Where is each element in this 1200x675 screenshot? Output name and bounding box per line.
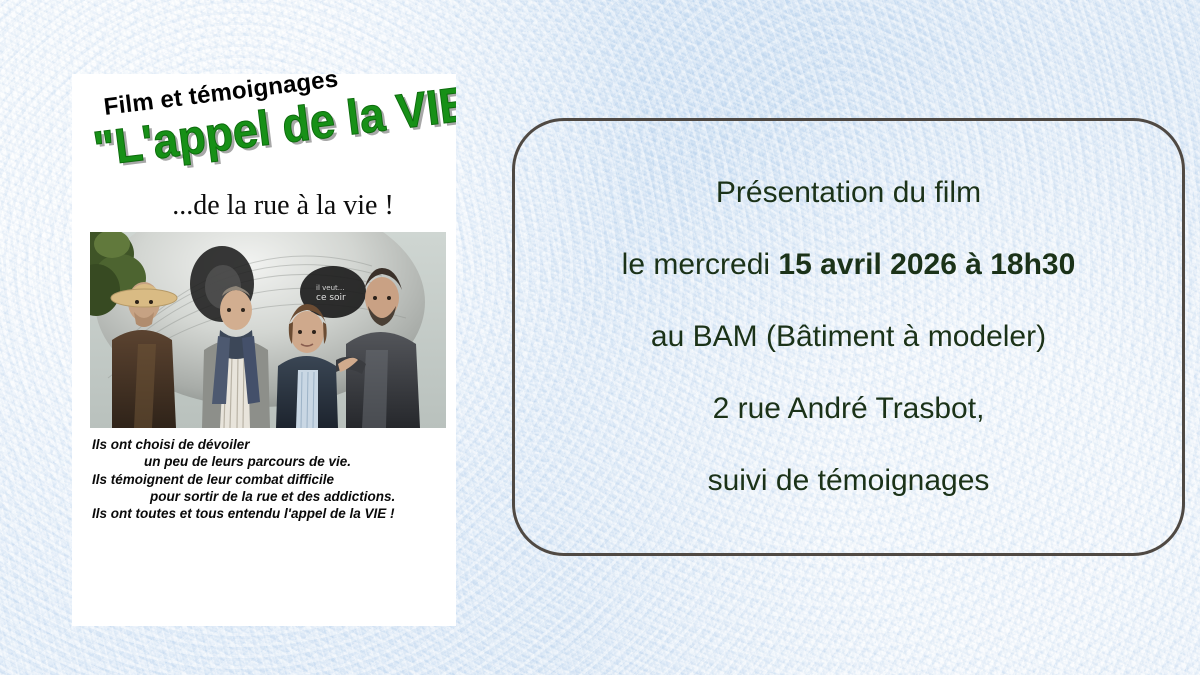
svg-text:ce soir: ce soir bbox=[316, 293, 346, 303]
film-poster: Film et témoignages "L'appel de la VIE" … bbox=[72, 74, 456, 626]
poster-photo-image: il veut... ce soir bbox=[90, 232, 446, 428]
svg-text:il veut...: il veut... bbox=[316, 284, 344, 292]
info-date-value: 15 avril 2026 à 18h30 bbox=[778, 248, 1075, 281]
caption-line-1: Ils ont choisi de dévoiler bbox=[92, 437, 250, 452]
caption-line-3: Ils témoignent de leur combat difficile bbox=[92, 472, 334, 487]
event-info-box: Présentation du film le mercredi 15 avri… bbox=[512, 118, 1185, 556]
caption-line-2: un peu de leurs parcours de vie. bbox=[92, 453, 442, 470]
poster-header: Film et témoignages "L'appel de la VIE" … bbox=[72, 74, 456, 229]
info-line-venue: au BAM (Bâtiment à modeler) bbox=[651, 320, 1046, 354]
poster-photo: il veut... ce soir bbox=[90, 232, 446, 428]
slide-canvas: Film et témoignages "L'appel de la VIE" … bbox=[0, 0, 1200, 675]
info-line-address: 2 rue André Trasbot, bbox=[713, 392, 985, 426]
info-date-prefix: le mercredi bbox=[622, 248, 779, 281]
caption-line-4: pour sortir de la rue et des addictions. bbox=[92, 488, 442, 505]
poster-subtitle: ...de la rue à la vie ! bbox=[72, 190, 456, 222]
caption-line-5: Ils ont toutes et tous entendu l'appel d… bbox=[92, 506, 395, 521]
info-line-presentation: Présentation du film bbox=[716, 176, 981, 210]
poster-caption: Ils ont choisi de dévoiler un peu de leu… bbox=[92, 436, 442, 522]
info-line-date: le mercredi 15 avril 2026 à 18h30 bbox=[622, 248, 1076, 282]
info-line-followup: suivi de témoignages bbox=[708, 464, 990, 498]
